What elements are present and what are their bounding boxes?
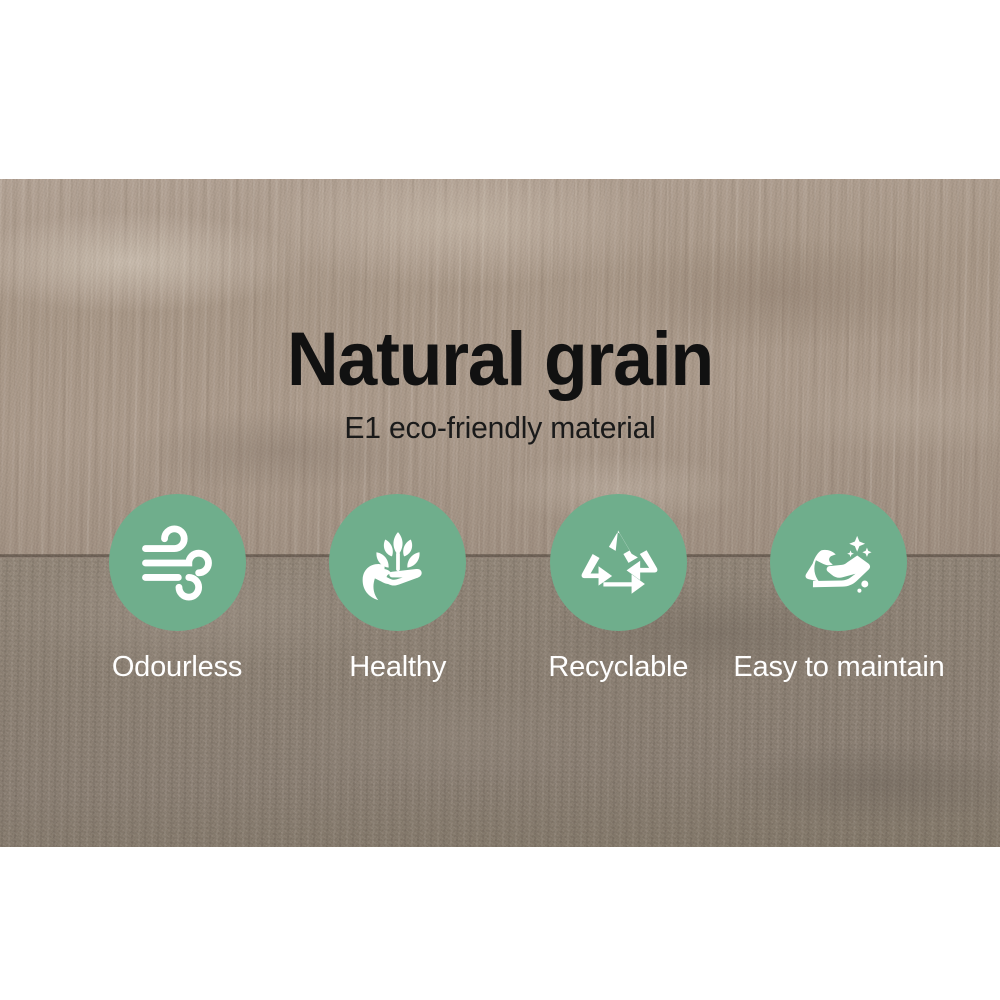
page-subtitle: E1 eco-friendly material — [15, 412, 985, 443]
feature-badge-healthy — [329, 494, 466, 631]
feature-badge-easy-to-maintain — [770, 494, 907, 631]
feature-label-odourless: Odourless — [112, 653, 242, 682]
feature-item-odourless: Odourless — [68, 494, 286, 682]
feature-item-easy-to-maintain: Easy to maintain — [730, 494, 948, 682]
recycle-icon — [577, 522, 659, 604]
feature-item-recyclable: Recyclable — [509, 494, 727, 682]
product-feature-banner: Natural grain E1 eco-friendly material O… — [0, 0, 1000, 1000]
feature-badge-recyclable — [550, 494, 687, 631]
feature-label-recyclable: Recyclable — [548, 653, 688, 682]
page-title: Natural grain — [30, 322, 970, 398]
feature-list: Odourless Healthy — [68, 494, 948, 682]
hand-wipe-sparkle-icon — [796, 520, 882, 606]
hand-plant-icon — [355, 520, 441, 606]
feature-label-healthy: Healthy — [349, 653, 446, 682]
feature-item-healthy: Healthy — [289, 494, 507, 682]
wind-icon — [135, 521, 219, 605]
feature-label-easy-to-maintain: Easy to maintain — [733, 653, 944, 682]
feature-badge-odourless — [109, 494, 246, 631]
headline-block: Natural grain E1 eco-friendly material — [0, 322, 1000, 443]
